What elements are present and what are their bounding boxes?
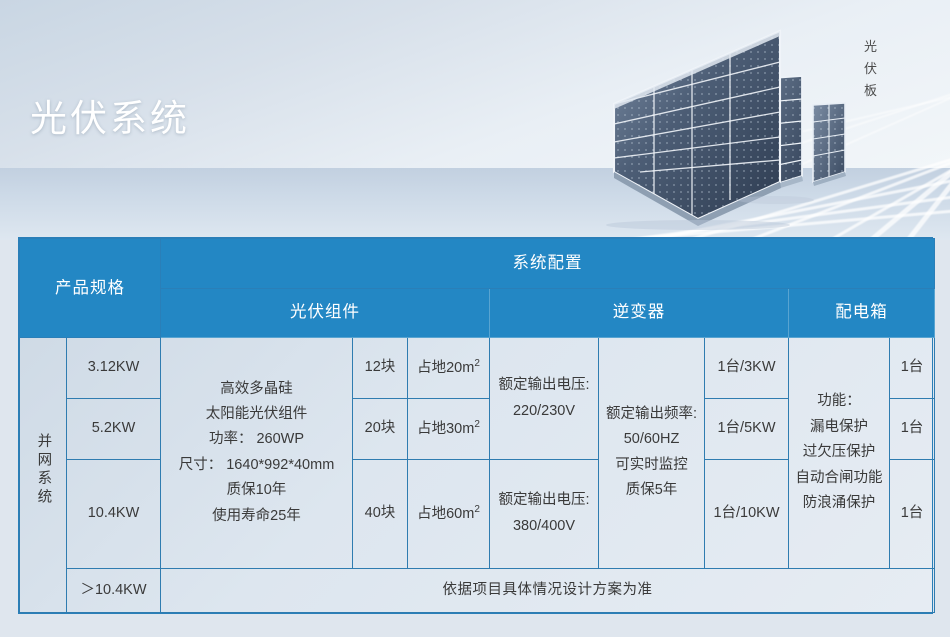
pv-spec-line: 尺寸： 1640*992*40mm [164, 453, 349, 478]
frequency-line: 质保5年 [602, 478, 701, 503]
cell-capacity: ＞10.4KW [67, 568, 161, 613]
voltage-label: 额定输出电压: [493, 373, 595, 398]
cell-capacity: 3.12KW [67, 338, 161, 399]
cell-output-voltage: 额定输出电压: 380/400V [490, 459, 599, 568]
pv-spec-lines: 高效多晶硅 太阳能光伏组件 功率： 260WP 尺寸： 1640*992*40m… [164, 377, 349, 529]
cell-area: 占地30m2 [408, 399, 490, 460]
header-distribution-box: 配电箱 [789, 288, 935, 338]
area-value: 占地20m [417, 360, 474, 376]
cell-inverter-unit: 1台/3KW [705, 338, 789, 399]
cell-pv-module-spec: 高效多晶硅 太阳能光伏组件 功率： 260WP 尺寸： 1640*992*40m… [161, 338, 353, 568]
voltage-lines: 额定输出电压: 220/230V [493, 373, 595, 424]
cell-area: 占地60m2 [408, 459, 490, 568]
box-function-line: 自动合闸功能 [792, 466, 886, 491]
cell-output-voltage: 额定输出电压: 220/230V [490, 338, 599, 460]
header-pv-module: 光伏组件 [161, 288, 490, 338]
solar-panel-label-char: 光 [860, 36, 882, 58]
frequency-line: 可实时监控 [602, 453, 701, 478]
voltage-value: 380/400V [493, 514, 595, 539]
cell-box-functions: 功能： 漏电保护 过欠压保护 自动合闸功能 防浪涌保护 [789, 338, 890, 568]
pv-spec-line: 质保10年 [164, 478, 349, 503]
cell-output-frequency: 额定输出频率: 50/60HZ 可实时监控 质保5年 [599, 338, 705, 568]
box-function-lines: 功能： 漏电保护 过欠压保护 自动合闸功能 防浪涌保护 [792, 389, 886, 516]
frequency-lines: 额定输出频率: 50/60HZ 可实时监控 质保5年 [602, 402, 701, 504]
solar-panel-label: 光 伏 板 [860, 36, 882, 102]
cell-footer-note: 依据项目具体情况设计方案为准 [161, 568, 935, 613]
pv-spec-line: 功率： 260WP [164, 427, 349, 452]
cell-box-count: 1台 [890, 338, 935, 399]
cell-capacity: 10.4KW [67, 459, 161, 568]
voltage-value: 220/230V [493, 399, 595, 424]
cell-box-count: 1台 [890, 399, 935, 460]
area-unit-exponent: 2 [474, 419, 480, 430]
solar-panel-back [813, 103, 846, 186]
cell-module-count: 20块 [353, 399, 408, 460]
page-title: 光伏系统 [30, 88, 190, 142]
solar-panel-illustration [580, 0, 950, 230]
cell-module-count: 40块 [353, 459, 408, 568]
hero-banner: 光伏系统 光 伏 板 [0, 0, 950, 240]
header-product-spec: 产品规格 [20, 239, 161, 338]
voltage-label: 额定输出电压: [493, 488, 595, 513]
box-function-line: 防浪涌保护 [792, 491, 886, 516]
voltage-lines: 额定输出电压: 380/400V [493, 488, 595, 539]
solar-panel-label-char: 板 [860, 80, 882, 102]
cell-system-type: 并网系统 [20, 338, 67, 613]
box-function-line: 过欠压保护 [792, 440, 886, 465]
spec-table: 产品规格 系统配置 光伏组件 逆变器 配电箱 并网系统 3.12KW 高效多晶硅… [19, 238, 935, 613]
table-row: ＞10.4KW 依据项目具体情况设计方案为准 [20, 568, 935, 613]
frequency-line: 额定输出频率: [602, 402, 701, 427]
pv-spec-line: 高效多晶硅 [164, 377, 349, 402]
cell-inverter-unit: 1台/10KW [705, 459, 789, 568]
table-row: 并网系统 3.12KW 高效多晶硅 太阳能光伏组件 功率： 260WP 尺寸： … [20, 338, 935, 399]
cell-capacity: 5.2KW [67, 399, 161, 460]
area-value: 占地30m [417, 421, 474, 437]
area-unit-exponent: 2 [474, 358, 480, 369]
frequency-line: 50/60HZ [602, 427, 701, 452]
solar-panel-label-char: 伏 [860, 58, 882, 80]
header-system-config: 系统配置 [161, 239, 935, 289]
system-type-text: 并网系统 [35, 433, 52, 507]
cell-area: 占地20m2 [408, 338, 490, 399]
spec-table-container: 产品规格 系统配置 光伏组件 逆变器 配电箱 并网系统 3.12KW 高效多晶硅… [18, 237, 933, 614]
slide-page: 光伏系统 光 伏 板 产品规格 系统配置 [0, 0, 950, 637]
cell-module-count: 12块 [353, 338, 408, 399]
header-inverter: 逆变器 [490, 288, 789, 338]
cell-inverter-unit: 1台/5KW [705, 399, 789, 460]
cell-box-count: 1台 [890, 459, 935, 568]
area-value: 占地60m [417, 505, 474, 521]
box-function-line: 功能： [792, 389, 886, 414]
box-function-line: 漏电保护 [792, 415, 886, 440]
pv-spec-line: 太阳能光伏组件 [164, 402, 349, 427]
pv-spec-line: 使用寿命25年 [164, 504, 349, 529]
table-header-row-1: 产品规格 系统配置 [20, 239, 935, 289]
area-unit-exponent: 2 [474, 504, 480, 515]
